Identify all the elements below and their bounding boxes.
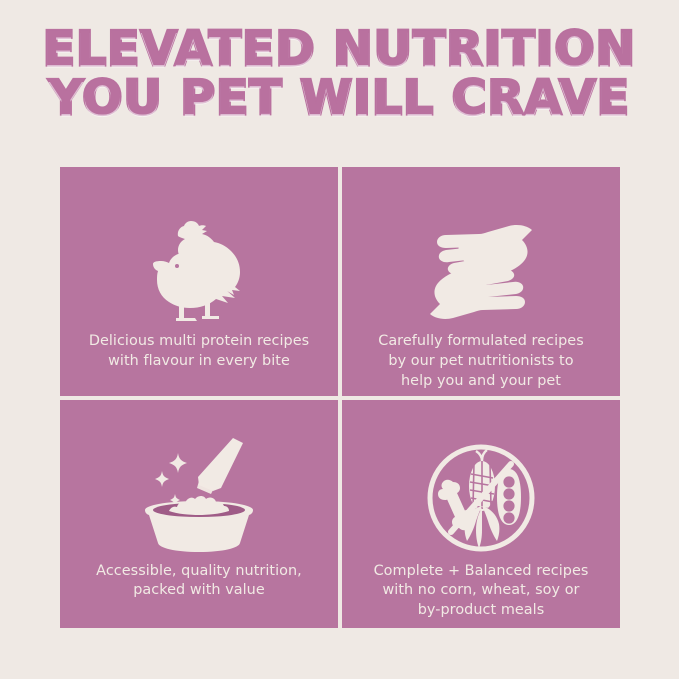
feature-panel-value: Accessible, quality nutrition, packed wi… <box>60 400 338 629</box>
chicken-and-duck-icon <box>60 167 338 326</box>
feature-panel-protein: Delicious multi protein recipes with fla… <box>60 167 338 396</box>
feature-caption: Carefully formulated recipes by our pet … <box>353 332 609 392</box>
hands-holding-heart-icon <box>342 167 620 326</box>
no-corn-wheat-soy-icon <box>342 400 620 554</box>
feature-caption: Complete + Balanced recipes with no corn… <box>353 562 609 622</box>
page-title-line-2: YOU PET WILL CRAVE <box>0 77 679 120</box>
feature-grid: Delicious multi protein recipes with fla… <box>60 167 620 628</box>
feature-caption: Delicious multi protein recipes with fla… <box>71 332 327 372</box>
feature-panel-formulated: Carefully formulated recipes by our pet … <box>342 167 620 396</box>
feature-panel-no-fillers: Complete + Balanced recipes with no corn… <box>342 400 620 629</box>
infographic-page: ELEVATED NUTRITION YOU PET WILL CRAVE <box>0 0 679 679</box>
page-title-line-1: ELEVATED NUTRITION <box>0 28 679 71</box>
page-title: ELEVATED NUTRITION YOU PET WILL CRAVE <box>0 28 679 120</box>
food-bowl-with-scoop-icon <box>60 400 338 554</box>
feature-caption: Accessible, quality nutrition, packed wi… <box>71 562 327 602</box>
